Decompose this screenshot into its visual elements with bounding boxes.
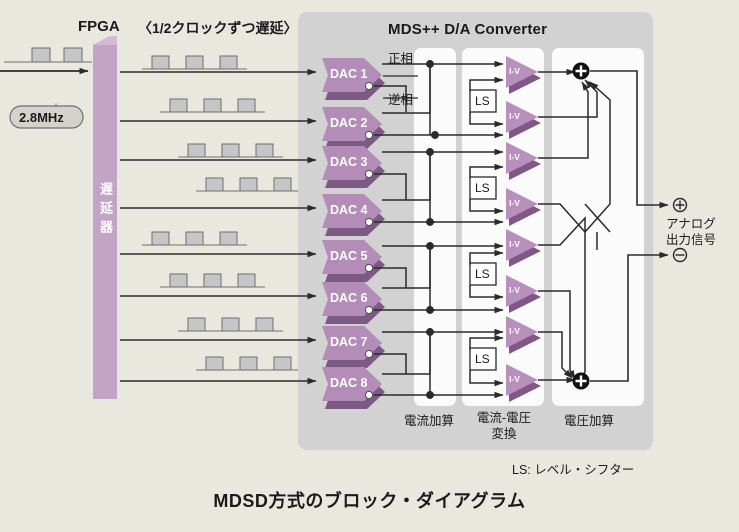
input-waveform [4,48,92,62]
iv-amp-label-2: I-V [509,111,520,121]
column-caption-voltage-sum: 電圧加算 [564,410,614,429]
diagram-graphics [0,0,739,532]
iv-amp-label-5: I-V [509,239,520,249]
inverted-phase-label: 逆相 [388,89,413,108]
column-caption-iv-convert-line2: 変換 [468,426,540,442]
level-shifter-label-1: LS [475,94,490,108]
summing-node-bottom [573,373,590,390]
fpga-label: FPGA [78,18,120,35]
column-current-sum-bg [414,48,456,406]
dac-label-1: DAC 1 [330,67,368,81]
column-caption-current-sum: 電流加算 [404,410,454,429]
dac-label-4: DAC 4 [330,203,368,217]
analog-output-label-line1: アナログ [666,216,738,232]
waveform-4 [196,178,298,191]
level-shifter-label-3: LS [475,267,490,281]
waveform-8 [196,357,298,370]
waveform-7 [178,318,283,331]
level-shifter-label-2: LS [475,181,490,195]
diagram-canvas: FPGA 〈1/2クロックずつ遅延〉 遅延器 2.8MHz MDS++ D/A … [0,0,739,532]
delay-note-label: 〈1/2クロックずつ遅延〉 [138,18,297,38]
analog-output-label: アナログ 出力信号 [666,216,738,248]
iv-amp-label-4: I-V [509,198,520,208]
clock-frequency-label: 2.8MHz [19,110,64,125]
positive-phase-label: 正相 [388,48,413,67]
waveform-1 [142,56,247,69]
panel-title: MDS++ D/A Converter [388,21,547,38]
iv-amp-label-3: I-V [509,152,520,162]
iv-amp-label-6: I-V [509,285,520,295]
waveform-3 [178,144,283,157]
iv-amp-label-8: I-V [509,374,520,384]
dac-label-7: DAC 7 [330,335,368,349]
column-caption-iv-convert-line1: 電流-電圧 [468,410,540,426]
dac-label-3: DAC 3 [330,155,368,169]
dac-label-6: DAC 6 [330,291,368,305]
level-shifter-label-4: LS [475,352,490,366]
iv-amp-label-1: I-V [509,66,520,76]
analog-output-label-line2: 出力信号 [666,232,738,248]
figure-caption: MDSD方式のブロック・ダイアグラム [0,487,739,513]
column-voltage-sum-bg [552,48,644,406]
fpga-vertical-label: 遅延器 [97,182,113,239]
dac-label-8: DAC 8 [330,376,368,390]
iv-amp-label-7: I-V [509,326,520,336]
delayed-waveforms [142,56,298,370]
waveform-6 [160,274,265,287]
fpga-to-dac-lines [120,72,316,381]
dac-label-2: DAC 2 [330,116,368,130]
column-caption-iv-convert: 電流-電圧 変換 [468,410,540,442]
waveform-2 [160,99,265,112]
ls-legend: LS: レベル・シフター [512,459,634,478]
summing-node-top [573,63,590,80]
dac-label-5: DAC 5 [330,249,368,263]
waveform-5 [142,232,247,245]
